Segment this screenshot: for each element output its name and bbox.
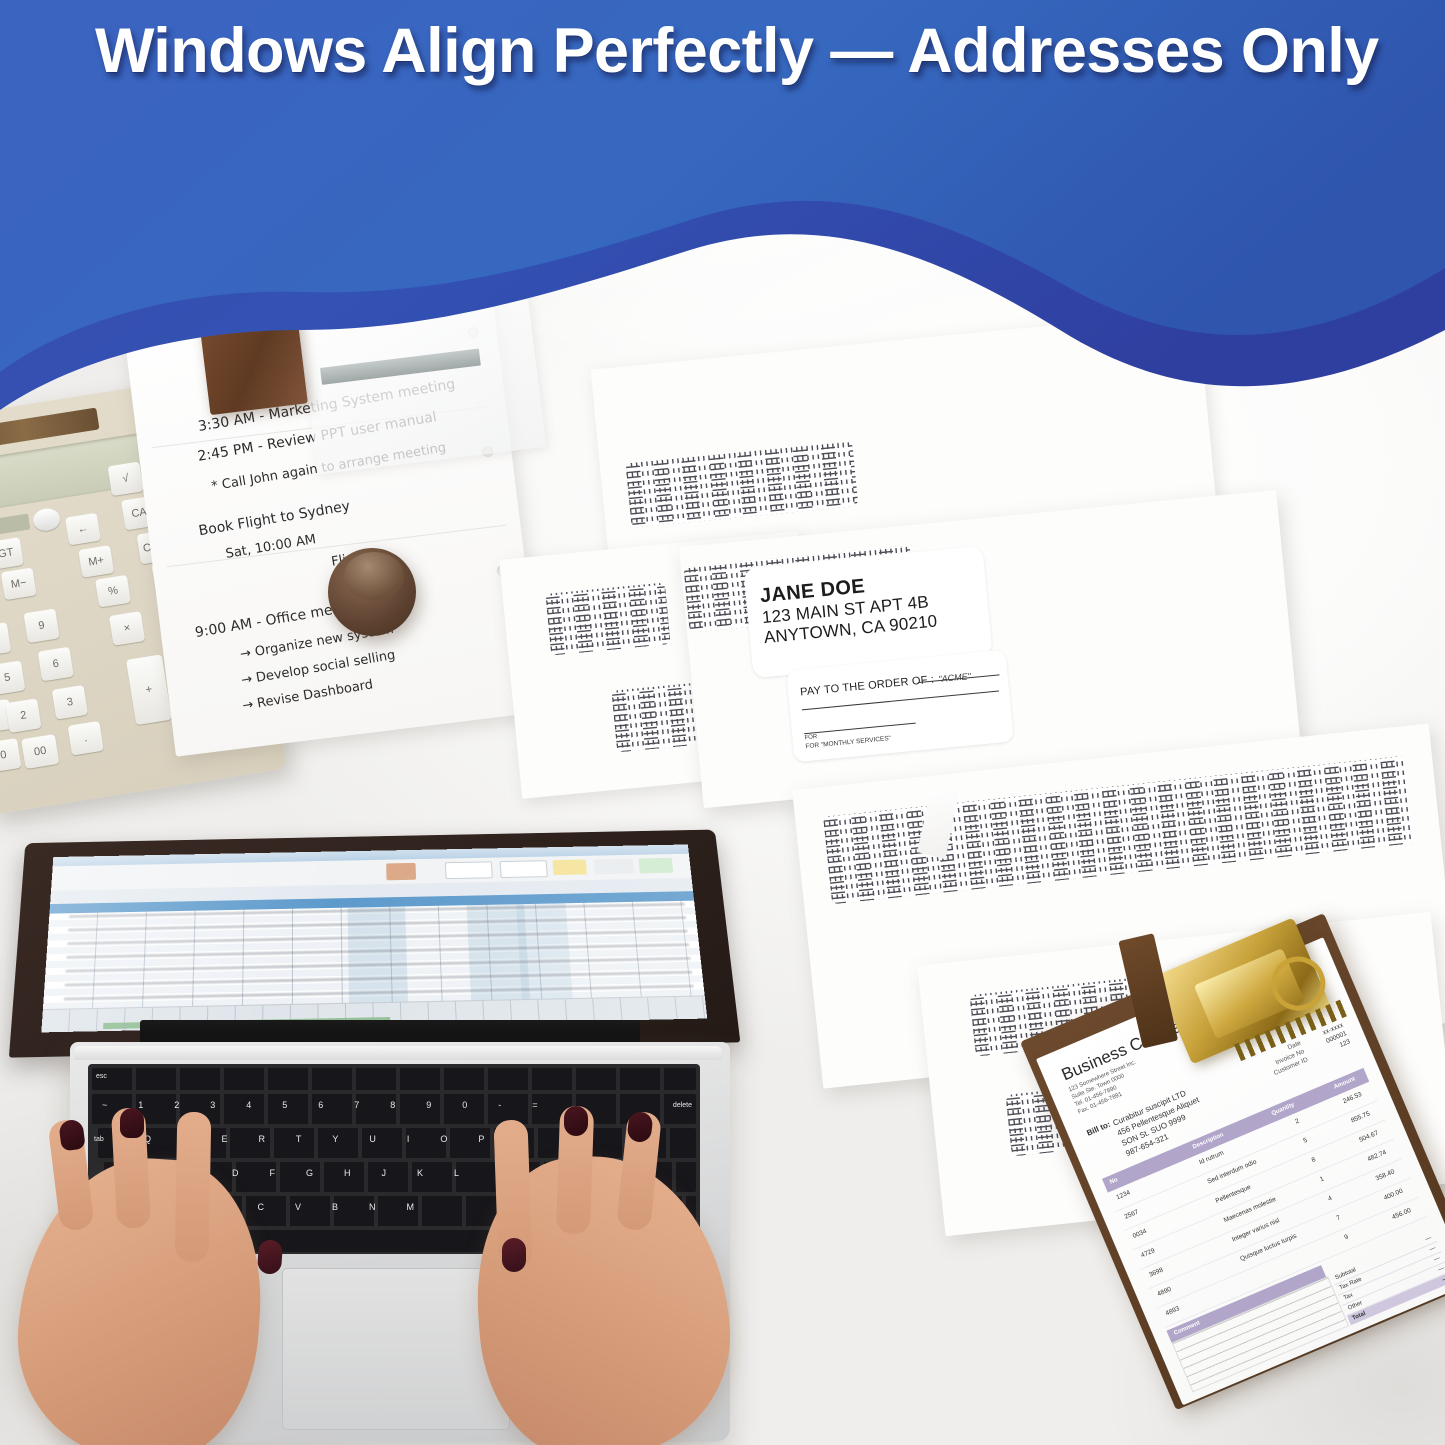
invoice-cell-no: 4890	[1156, 1286, 1172, 1298]
calculator-key-percent[interactable]: %	[95, 575, 131, 608]
check-for-label: FOR	[804, 734, 817, 741]
calculator-key-9[interactable]: 9	[23, 608, 59, 643]
invoice-cell-no: 4729	[1140, 1247, 1156, 1259]
hand-left-finger-3	[175, 1112, 212, 1263]
invoice-cell-quantity: 8	[1311, 1156, 1317, 1164]
invoice-bill-to-label: Bill to:	[1085, 1120, 1111, 1138]
nail-right-2	[564, 1106, 588, 1136]
laptop-screen[interactable]	[41, 844, 707, 1032]
invoice-cell-quantity: 7	[1335, 1214, 1341, 1222]
invoice-meta-values: xx-xxxx 000001 123	[1321, 1021, 1352, 1054]
calculator-key-mminus[interactable]: M−	[1, 567, 37, 600]
invoice-cell-amount: 456.00	[1391, 1207, 1412, 1221]
calculator-key-00[interactable]: 00	[21, 734, 59, 769]
laptop: ~1234567890-= QWERTYUIOP ASDFGHJKL ZXCVB…	[10, 820, 740, 1445]
product-marketing-image: √ CA ← GT CCE M+ M− MU % +/− 7 8 9 ÷ × 4…	[0, 0, 1445, 1445]
pay-to-order-label: PAY TO THE ORDER OF :	[800, 674, 935, 699]
calculator-key-dot[interactable]: .	[68, 721, 104, 756]
notepad-line-4: Book Flight to Sydney	[198, 498, 352, 539]
invoice-cell-no: 2567	[1124, 1209, 1140, 1221]
invoice-cell-description: Id rutrum	[1198, 1150, 1225, 1167]
nail-right-1	[502, 1238, 526, 1272]
envelope-left-security-window-1	[545, 582, 670, 655]
calculator-key-multiply[interactable]: ×	[109, 611, 145, 646]
calculator-key-2[interactable]: 2	[5, 698, 41, 733]
invoice-cell-amount: 358.40	[1375, 1168, 1396, 1182]
check-for-value: FOR "MONTHLY SERVICES"	[805, 735, 891, 750]
invoice-cell-quantity: 2	[1294, 1118, 1300, 1126]
calculator-key-sqrt[interactable]: √	[107, 461, 143, 496]
invoice-cell-amount: 246.53	[1342, 1091, 1363, 1105]
calculator-key-mplus[interactable]: M+	[78, 545, 114, 578]
invoice-cell-no: 4893	[1165, 1305, 1181, 1317]
notepad-line-5: Sat, 10:00 AM	[225, 532, 318, 562]
laptop-trackpad[interactable]	[282, 1268, 510, 1430]
invoice-cell-amount: 482.74	[1366, 1149, 1387, 1163]
calculator-key-back[interactable]: ←	[65, 513, 101, 546]
invoice-col-no: No	[1109, 1177, 1119, 1186]
invoice-cell-no: 0034	[1132, 1228, 1148, 1240]
invoice-cell-no: 3698	[1148, 1267, 1164, 1279]
calculator-key-5[interactable]: 5	[0, 660, 25, 695]
invoice-cell-amount: 400.00	[1383, 1188, 1404, 1202]
calculator-key-6[interactable]: 6	[38, 647, 74, 682]
calculator-key-3[interactable]: 3	[52, 685, 88, 720]
invoice-cell-no: 1234	[1115, 1189, 1131, 1201]
invoice-cell-quantity: 5	[1302, 1137, 1308, 1145]
nail-left-2	[120, 1108, 144, 1138]
calculator-key-gt[interactable]: GT	[0, 537, 24, 570]
wooden-knob-top	[344, 552, 404, 600]
invoice-cell-quantity: 4	[1327, 1195, 1333, 1203]
invoice-cell-quantity: 9	[1343, 1234, 1349, 1242]
invoice-cell-quantity: 1	[1319, 1176, 1325, 1184]
invoice-cell-amount: 855.75	[1350, 1110, 1371, 1124]
invoice-cell-amount: 504.67	[1358, 1130, 1379, 1144]
